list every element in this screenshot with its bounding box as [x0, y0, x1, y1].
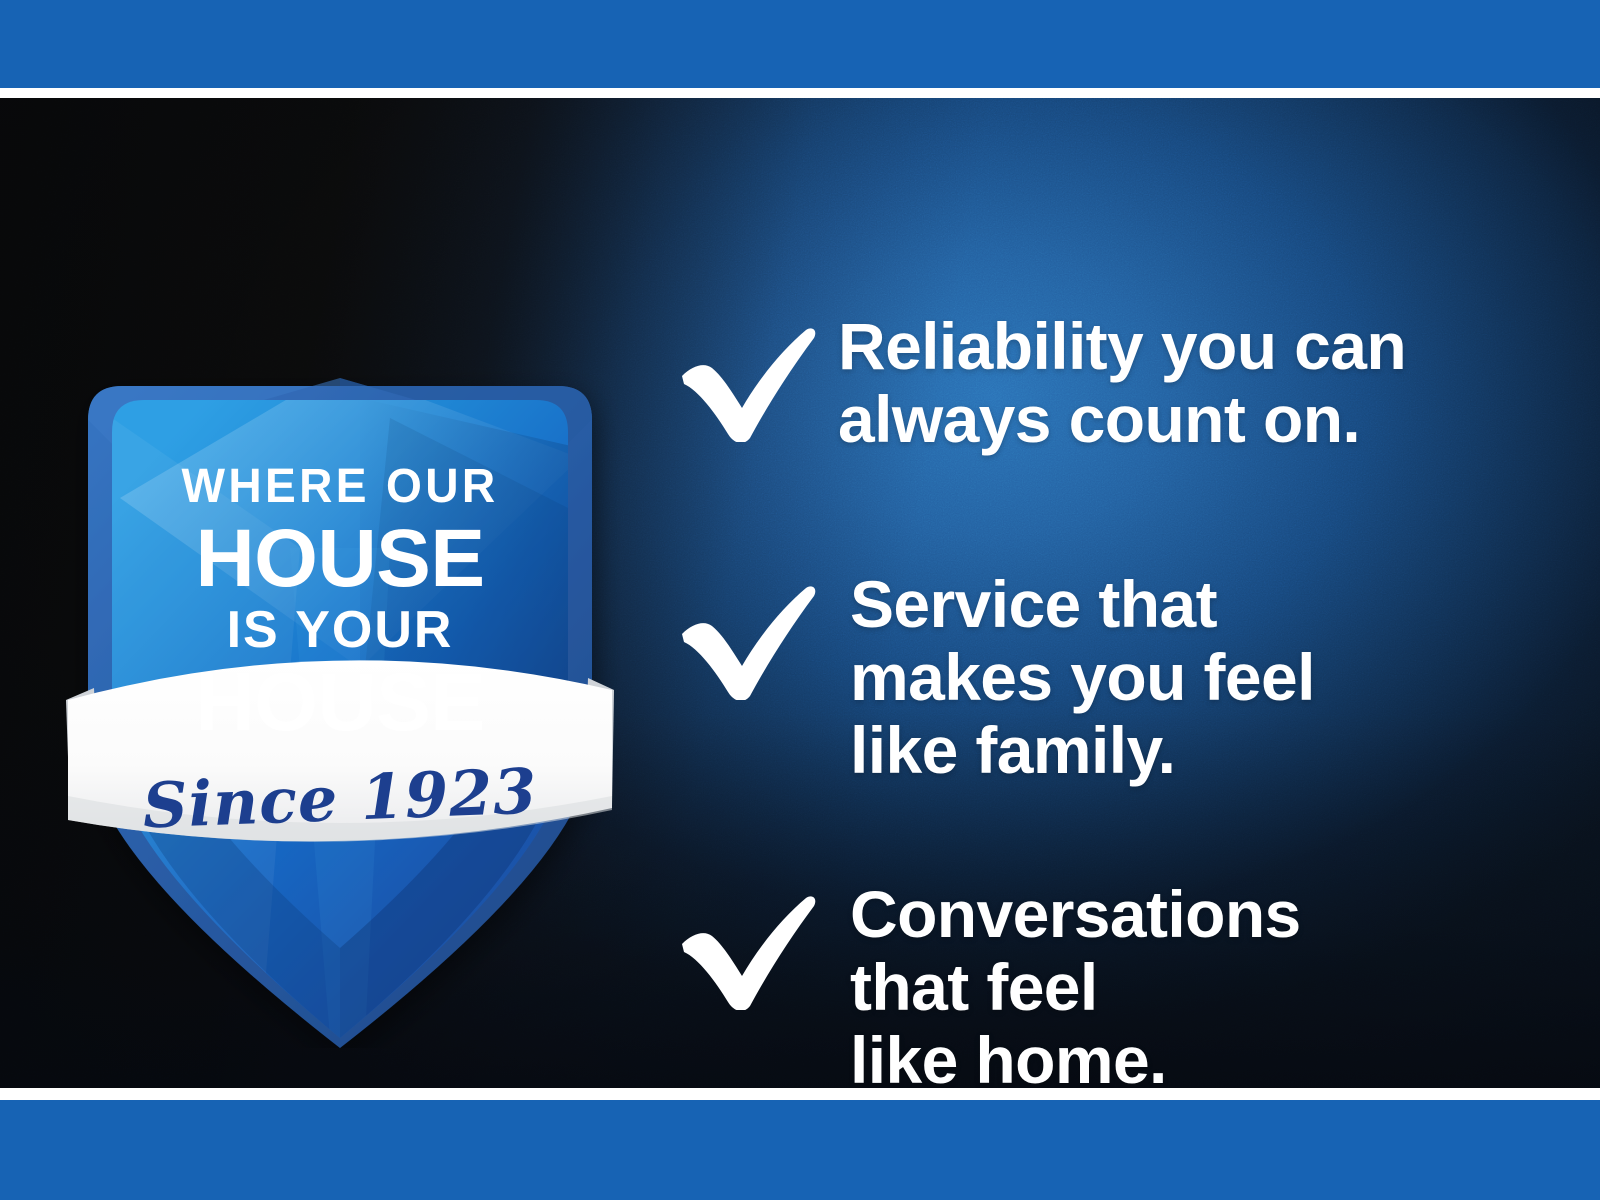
shield-line-2: HOUSE	[60, 518, 620, 600]
shield-line-1: WHERE OUR	[71, 463, 609, 511]
check-icon	[678, 892, 818, 1010]
main-panel: WHERE OUR HOUSE IS YOUR HOUSE Since 1923…	[0, 98, 1600, 1088]
shield-logo: WHERE OUR HOUSE IS YOUR HOUSE Since 1923	[60, 248, 620, 1048]
promo-graphic: WHERE OUR HOUSE IS YOUR HOUSE Since 1923…	[0, 0, 1600, 1200]
list-item-text: Conversations that feel like home.	[850, 878, 1570, 1088]
check-icon	[678, 582, 818, 700]
list-item-text: Reliability you can always count on.	[838, 310, 1558, 456]
shield-line-3: IS YOUR	[60, 604, 620, 656]
benefits-list: Reliability you can always count on. Ser…	[660, 248, 1560, 1088]
shield-line-4: HOUSE	[60, 662, 620, 744]
check-icon	[678, 324, 818, 442]
list-item-text: Service that makes you feel like family.	[850, 568, 1570, 787]
bottom-brand-bar	[0, 1100, 1600, 1200]
top-brand-bar	[0, 0, 1600, 88]
